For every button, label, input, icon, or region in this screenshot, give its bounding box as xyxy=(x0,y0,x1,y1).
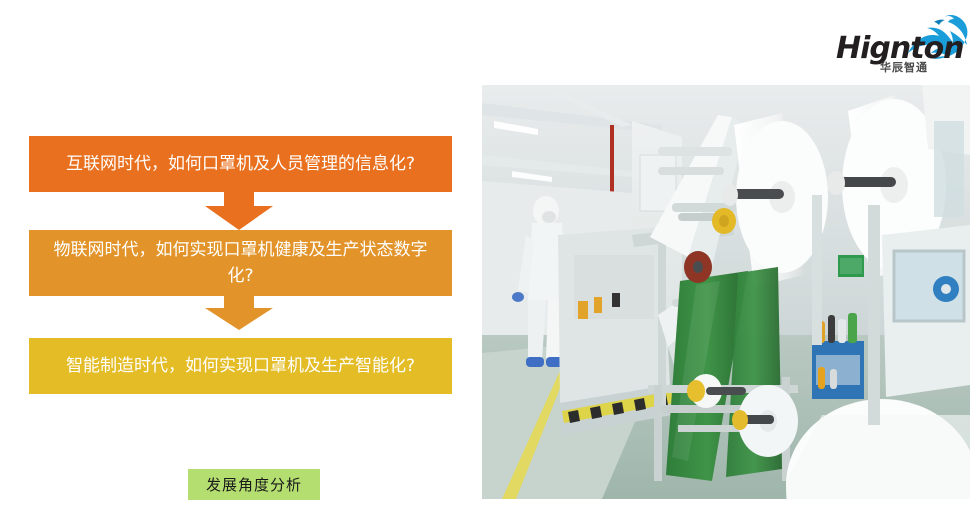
arrow-head xyxy=(205,308,273,330)
process-step-3-label: 智能制造时代，如何实现口罩机及生产智能化? xyxy=(66,353,415,379)
logo-wordmark: Hignton xyxy=(836,34,964,64)
down-arrow-icon-2 xyxy=(205,296,273,330)
arrow-stem xyxy=(224,296,254,308)
arrow-stem xyxy=(224,192,254,206)
factory-photo xyxy=(482,85,970,499)
slide-root: Hignton 华辰智通 互联网时代，如何口罩机及人员管理的信息化? 物联网时代… xyxy=(0,0,976,506)
arrow-head xyxy=(205,206,273,230)
process-step-1-label: 互联网时代，如何口罩机及人员管理的信息化? xyxy=(66,151,415,177)
process-step-2-label: 物联网时代，如何实现口罩机健康及生产状态数字化? xyxy=(43,237,438,289)
analysis-caption-badge: 发展角度分析 xyxy=(188,469,320,500)
factory-photo-illustration xyxy=(482,85,970,499)
process-step-3[interactable]: 智能制造时代，如何实现口罩机及生产智能化? xyxy=(29,338,452,394)
company-logo: Hignton 华辰智通 xyxy=(836,16,968,76)
process-step-2[interactable]: 物联网时代，如何实现口罩机健康及生产状态数字化? xyxy=(29,230,452,296)
analysis-caption-label: 发展角度分析 xyxy=(206,474,302,495)
process-step-1[interactable]: 互联网时代，如何口罩机及人员管理的信息化? xyxy=(29,136,452,192)
down-arrow-icon-1 xyxy=(205,192,273,230)
logo-subtext: 华辰智通 xyxy=(880,62,928,73)
